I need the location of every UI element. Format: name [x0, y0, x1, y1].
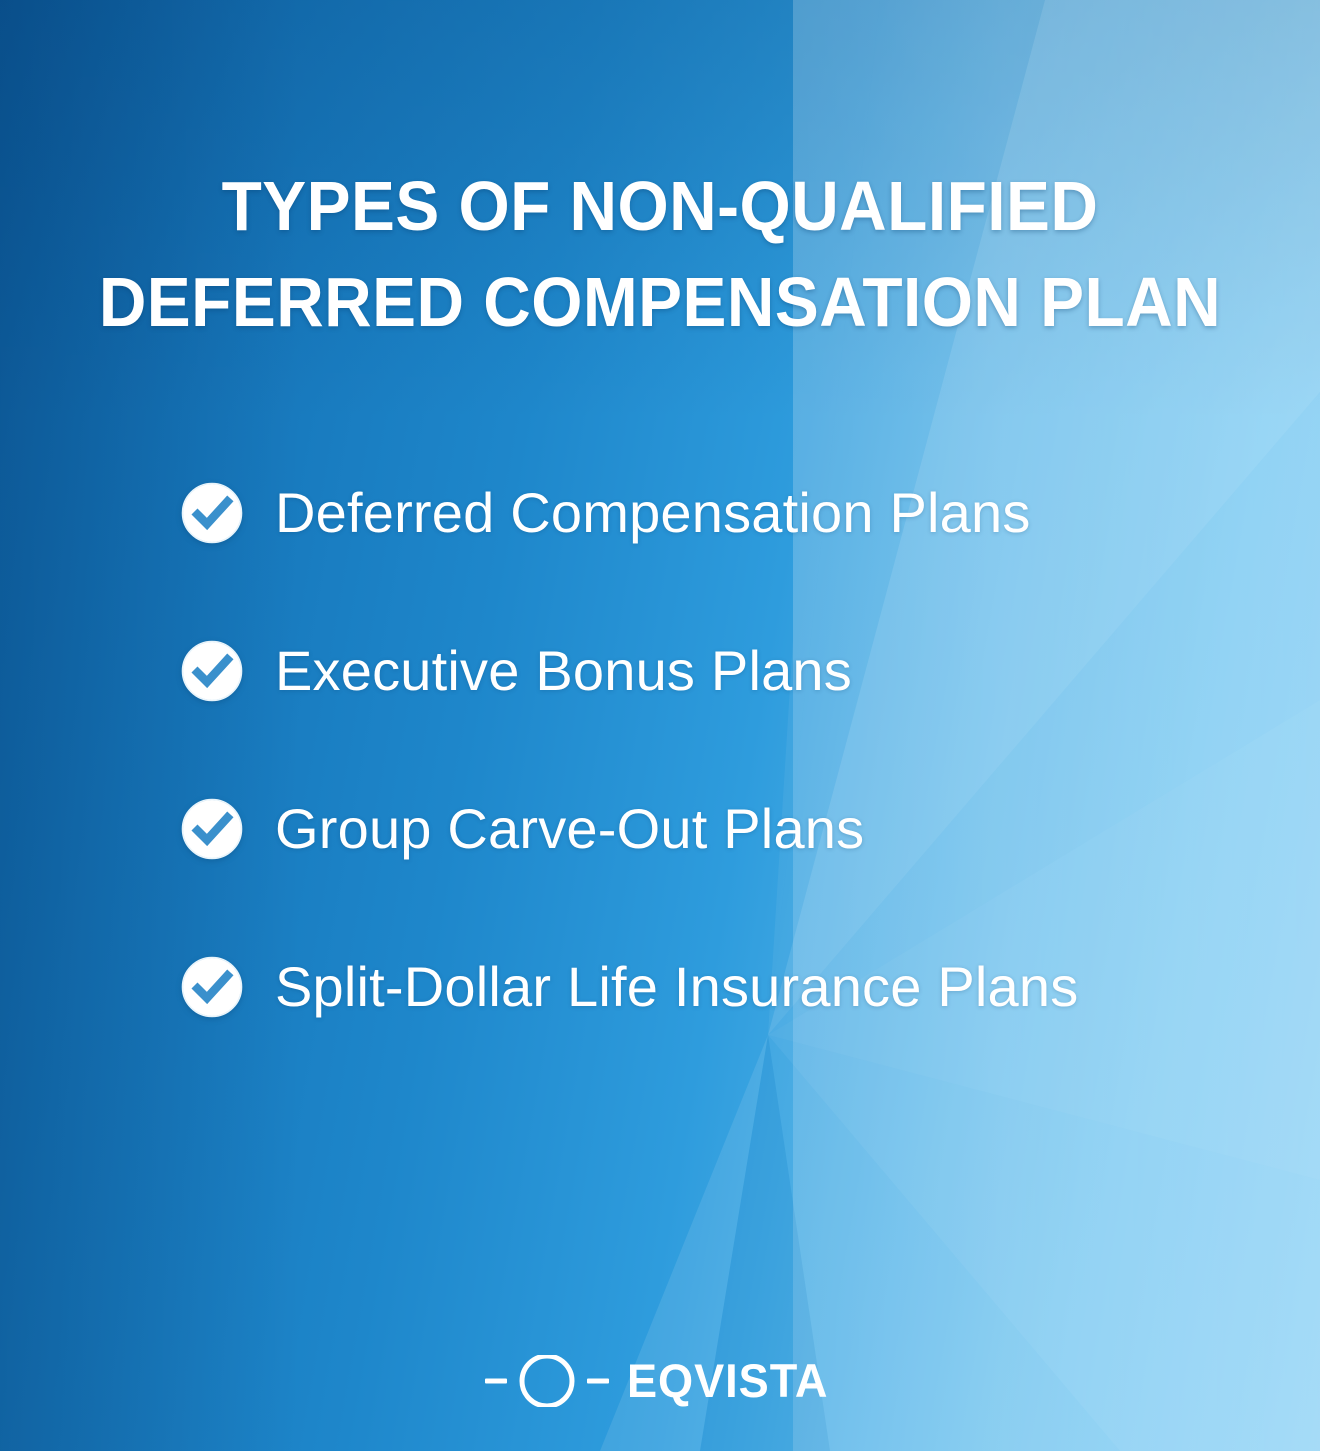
check-circle-icon: [181, 640, 243, 702]
poster-canvas: .r1 { fill:#ffffff; fill-opacity:0.10; }…: [0, 0, 1320, 1451]
dash-circle-dash-icon: [483, 1355, 611, 1407]
list-item-label: Deferred Compensation Plans: [275, 482, 1031, 544]
list-item-label: Executive Bonus Plans: [275, 640, 852, 702]
list-item: Executive Bonus Plans: [181, 628, 1241, 714]
list-item: Deferred Compensation Plans: [181, 470, 1241, 556]
title-line-1: TYPES OF NON-QUALIFIED: [94, 158, 1226, 254]
check-circle-icon: [181, 482, 243, 544]
check-circle-icon: [181, 956, 243, 1018]
check-circle-icon: [181, 798, 243, 860]
list-item: Group Carve-Out Plans: [181, 786, 1241, 872]
brand-logo: EQVISTA: [0, 1355, 1320, 1407]
title-line-2: DEFERRED COMPENSATION PLAN: [94, 254, 1226, 350]
list-item-label: Split-Dollar Life Insurance Plans: [275, 956, 1078, 1018]
list-item-label: Group Carve-Out Plans: [275, 798, 864, 860]
brand-wordmark: EQVISTA: [627, 1355, 828, 1407]
plan-types-list: Deferred Compensation Plans Executive Bo…: [181, 470, 1241, 1030]
page-title: TYPES OF NON-QUALIFIED DEFERRED COMPENSA…: [0, 158, 1320, 350]
list-item: Split-Dollar Life Insurance Plans: [181, 944, 1241, 1030]
